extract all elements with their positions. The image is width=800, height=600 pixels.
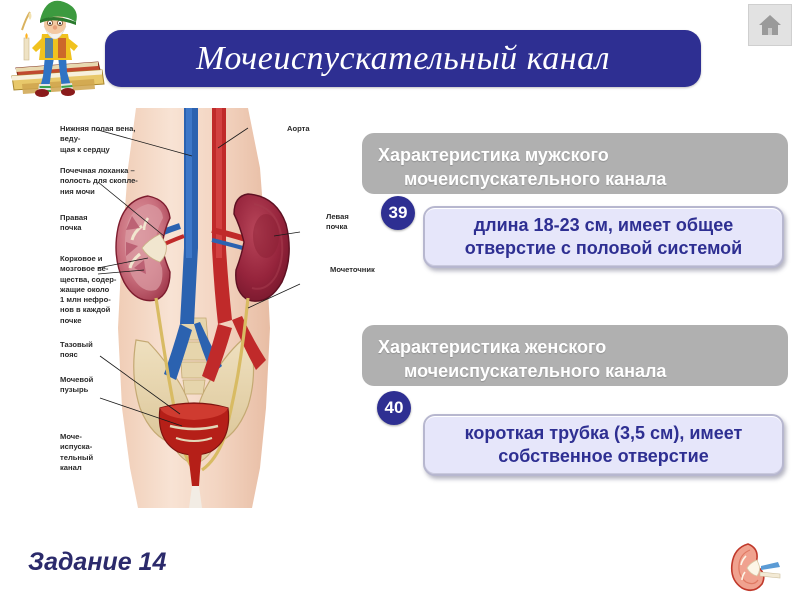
section-header-female: Характеристика женского мочеиспускательн… <box>362 325 788 386</box>
section-header-male-line1: Характеристика мужского <box>378 143 774 167</box>
section-header-female-line2: мочеиспускательного канала <box>378 359 774 383</box>
home-button[interactable] <box>748 4 792 46</box>
gnome-on-books-icon <box>2 0 110 100</box>
home-icon <box>757 13 783 37</box>
section-header-male: Характеристика мужского мочеиспускательн… <box>362 133 788 194</box>
answer-male[interactable]: длина 18-23 см, имеет общее отверстие с … <box>423 206 784 268</box>
anatomy-label-ureter: Мочеточник <box>330 265 375 274</box>
section-header-female-line1: Характеристика женского <box>378 335 774 359</box>
task-label: Задание 14 <box>28 548 166 577</box>
anatomy-label-aorta: Аорта <box>287 124 310 133</box>
answer-female[interactable]: короткая трубка (3,5 см), имеет собствен… <box>423 414 784 476</box>
slide-title-bar: Мочеиспускательный канал <box>105 30 701 87</box>
section-header-male-line2: мочеиспускательного канала <box>378 167 774 191</box>
anatomy-label-renal-pelvis: Почечная лоханка –полость для скопле-ния… <box>60 166 152 197</box>
anatomy-label-cortex-medulla: Корковое имозговое ве-щества, содер-жащи… <box>60 254 122 326</box>
badge-39: 39 <box>381 196 415 230</box>
anatomy-label-left-kidney: Леваяпочка <box>326 212 380 233</box>
anatomy-label-right-kidney: Праваяпочка <box>60 213 120 234</box>
kidney-icon <box>728 538 786 594</box>
badge-40: 40 <box>377 391 411 425</box>
anatomy-label-pelvic-girdle: Тазовыйпояс <box>60 340 120 361</box>
anatomy-label-vena-cava: Нижняя полая вена, веду-щая к сердцу <box>60 124 152 155</box>
anatomy-label-bladder: Мочевойпузырь <box>60 375 120 396</box>
gnome-decoration <box>2 0 110 100</box>
page-title: Мочеиспускательный канал <box>196 40 610 78</box>
anatomy-label-urethra: Моче-испуска-тельныйканал <box>60 432 120 473</box>
kidney-thumbnail <box>728 538 786 594</box>
